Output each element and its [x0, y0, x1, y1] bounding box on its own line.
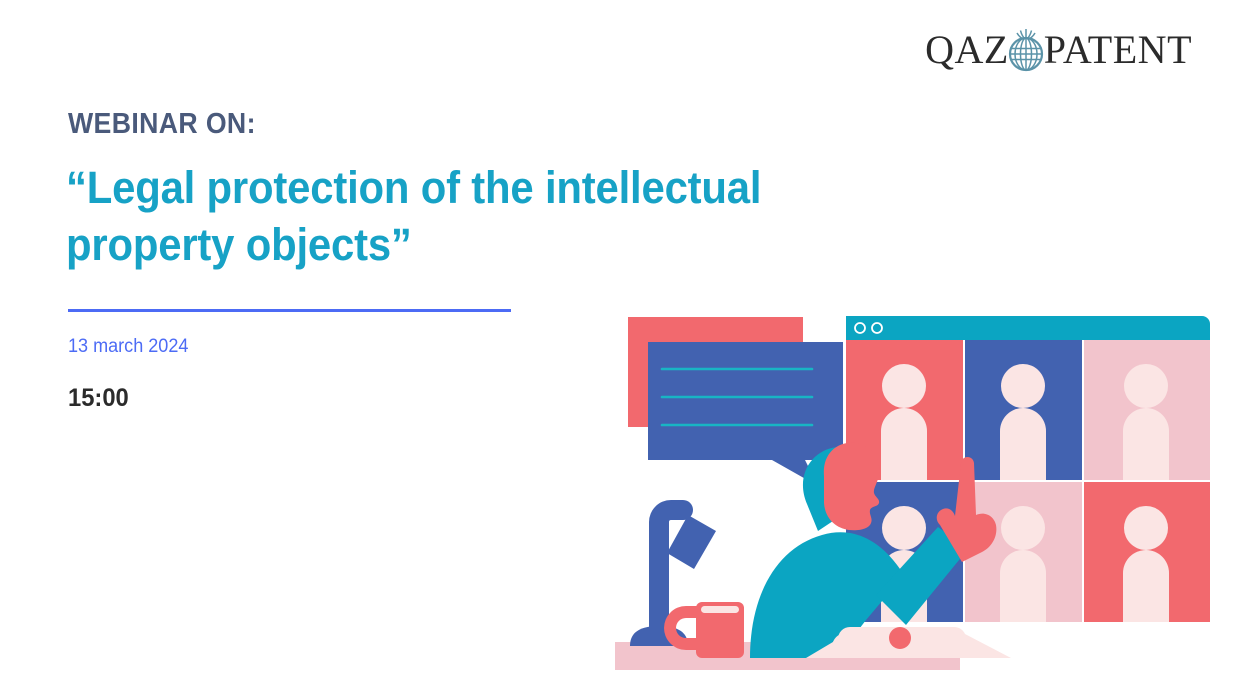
video-tile-1-2	[965, 340, 1082, 480]
avatar	[1123, 506, 1169, 622]
avatar	[881, 364, 927, 480]
avatar	[1000, 364, 1046, 480]
webinar-poster: QAZ PATENT WEBINAR ON: “L	[0, 0, 1260, 700]
video-tile-1-3	[1084, 340, 1210, 480]
qazpatent-logo: QAZ PATENT	[925, 26, 1192, 74]
page-title: “Legal protection of the intellectual pr…	[66, 160, 903, 273]
laptop-logo-dot	[889, 627, 911, 649]
video-tile-2-2	[965, 482, 1082, 622]
video-tile-2-3	[1084, 482, 1210, 622]
event-date: 13 march 2024	[68, 336, 188, 358]
globe-emblem-icon	[1004, 27, 1048, 73]
logo-text-patent: PATENT	[1044, 30, 1192, 70]
logo-text-qaz: QAZ	[925, 30, 1009, 70]
presenter-head	[824, 443, 879, 530]
avatar	[1000, 506, 1046, 622]
video-conference-illustration	[600, 290, 1220, 680]
section-divider	[68, 309, 511, 312]
avatar	[1123, 364, 1169, 480]
event-time: 15:00	[68, 384, 129, 413]
webinar-kicker: WEBINAR ON:	[68, 108, 256, 141]
